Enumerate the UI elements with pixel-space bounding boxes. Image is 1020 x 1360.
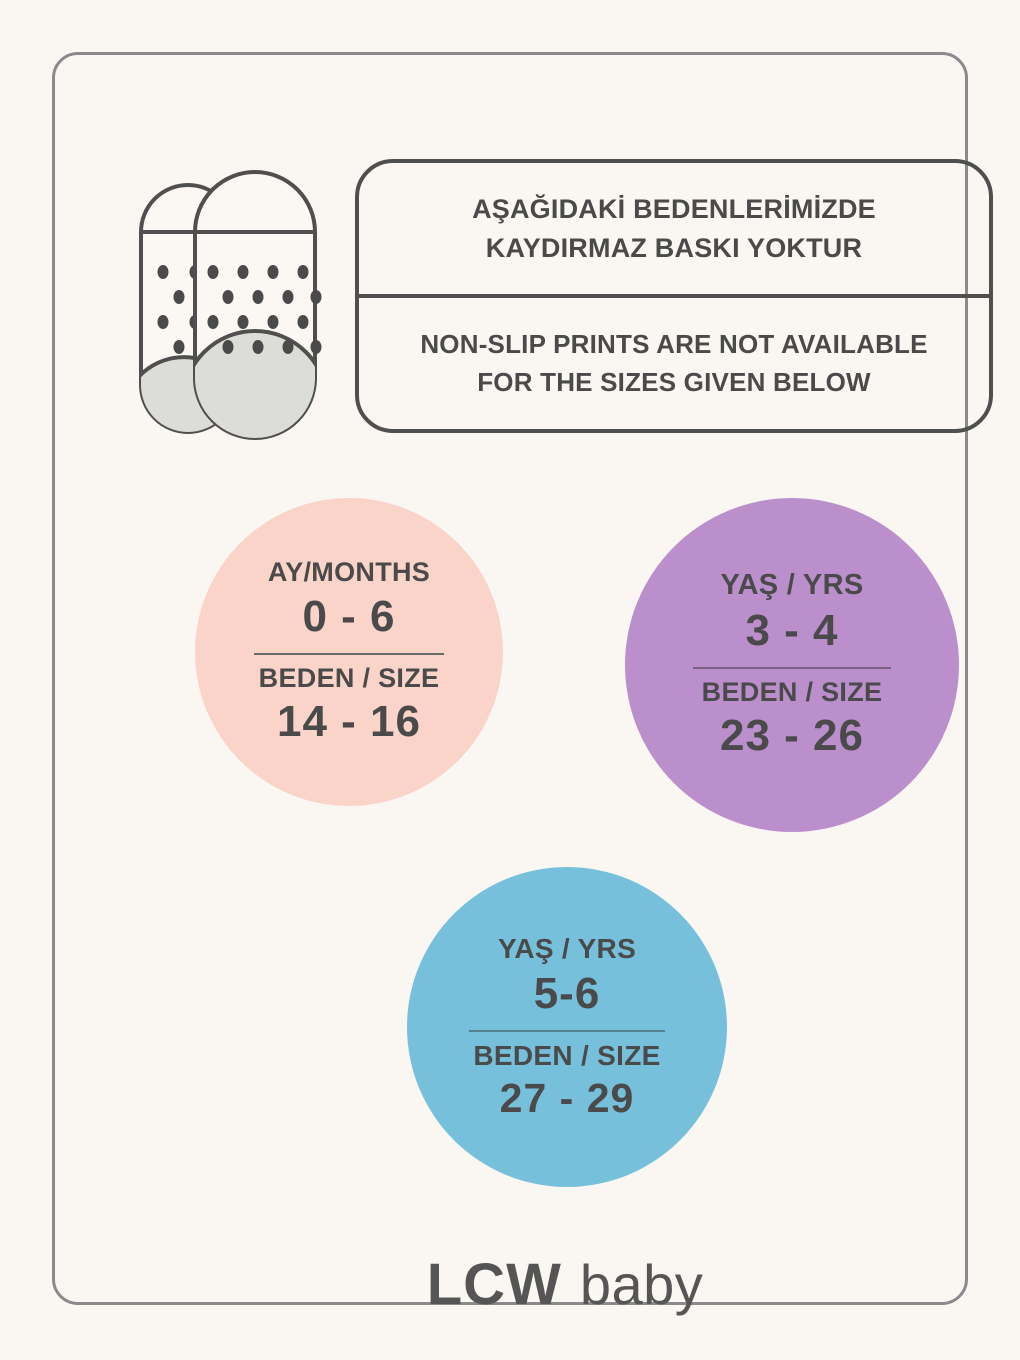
circle-divider <box>469 1030 665 1032</box>
size-value: 27 - 29 <box>500 1075 635 1122</box>
notice-turkish-line-1: AŞAĞIDAKİ BEDENLERİMİZDE <box>472 195 876 223</box>
size-value: 14 - 16 <box>277 697 421 747</box>
notice-english-line-1: NON-SLIP PRINTS ARE NOT AVAILABLE <box>420 331 927 358</box>
notice-turkish: AŞAĞIDAKİ BEDENLERİMİZDE KAYDIRMAZ BASKI… <box>359 163 989 294</box>
age-label: YAŞ / YRS <box>721 569 864 602</box>
size-label: BEDEN / SIZE <box>702 677 883 708</box>
size-circle-pink: AY/MONTHS 0 - 6 BEDEN / SIZE 14 - 16 <box>195 498 503 806</box>
size-label: BEDEN / SIZE <box>259 663 440 694</box>
size-circle-purple: YAŞ / YRS 3 - 4 BEDEN / SIZE 23 - 26 <box>625 498 959 832</box>
notice-box: AŞAĞIDAKİ BEDENLERİMİZDE KAYDIRMAZ BASKI… <box>355 159 993 433</box>
notice-turkish-line-2: KAYDIRMAZ BASKI YOKTUR <box>486 234 862 262</box>
notice-english-line-2: FOR THE SIZES GIVEN BELOW <box>477 369 871 396</box>
size-circle-blue: YAŞ / YRS 5-6 BEDEN / SIZE 27 - 29 <box>407 867 727 1187</box>
age-value: 0 - 6 <box>302 592 395 642</box>
circle-divider <box>693 667 891 669</box>
info-card: AŞAĞIDAKİ BEDENLERİMİZDE KAYDIRMAZ BASKI… <box>52 52 968 1305</box>
age-value: 3 - 4 <box>745 606 838 656</box>
age-label: YAŞ / YRS <box>498 933 636 965</box>
age-value: 5-6 <box>534 969 601 1019</box>
circle-divider <box>254 653 444 655</box>
sock-front <box>183 172 323 440</box>
brand-primary: LCW <box>427 1252 562 1317</box>
non-slip-socks-icon <box>133 160 323 440</box>
brand-logo: LCWbaby <box>55 1251 1020 1318</box>
size-label: BEDEN / SIZE <box>473 1040 660 1072</box>
notice-english: NON-SLIP PRINTS ARE NOT AVAILABLE FOR TH… <box>359 298 989 429</box>
brand-secondary: baby <box>580 1253 703 1316</box>
size-value: 23 - 26 <box>720 711 864 761</box>
age-label: AY/MONTHS <box>268 557 430 588</box>
